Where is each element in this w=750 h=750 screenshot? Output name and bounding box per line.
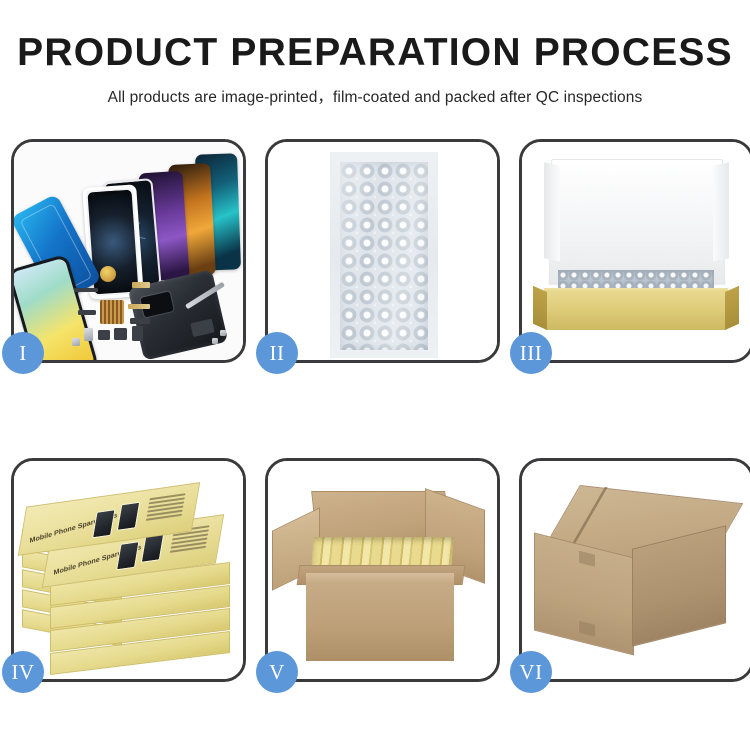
retail-box-phone-image — [117, 502, 141, 531]
process-step-panel-5: V — [265, 458, 500, 682]
part-speaker-ring — [100, 266, 116, 282]
part-camera-flex — [130, 318, 150, 324]
panel-6-image — [522, 461, 750, 679]
page-title: PRODUCT PREPARATION PROCESS — [0, 0, 750, 75]
mailer-lid-flap — [549, 159, 725, 285]
panel-4-image: Mobile Phone Spare Parts Mobile Phone Sp… — [14, 461, 243, 679]
part-screw — [220, 330, 226, 336]
spare-parts-cluster — [14, 142, 243, 360]
step-badge-1: I — [2, 332, 44, 374]
process-step-panel-2: II — [265, 139, 500, 363]
part-flex-strip — [74, 288, 98, 292]
part-vibrator — [114, 328, 127, 340]
part-screw — [72, 338, 80, 346]
part-screw — [212, 338, 218, 344]
carton-tab-lower — [579, 621, 595, 637]
process-step-panel-6: VI — [519, 458, 750, 682]
bubble-wrap-texture — [340, 162, 428, 350]
step-badge-4: IV — [2, 651, 44, 693]
process-steps-grid: I II III — [11, 139, 739, 682]
header: PRODUCT PREPARATION PROCESS All products… — [0, 0, 750, 107]
product-preparation-infographic: PRODUCT PREPARATION PROCESS All products… — [0, 0, 750, 750]
part-connector — [132, 282, 150, 288]
retail-box-stack: Mobile Phone Spare Parts Mobile Phone Sp… — [20, 477, 238, 673]
process-step-panel-1: I — [11, 139, 246, 363]
step-badge-5: V — [256, 651, 298, 693]
panel-3-image — [522, 142, 750, 360]
carton-tab-upper — [579, 551, 595, 567]
panel-2-image — [268, 142, 497, 360]
retail-box-phone-image — [116, 541, 140, 570]
panel-5-image — [268, 461, 497, 679]
process-step-panel-4: Mobile Phone Spare Parts Mobile Phone Sp… — [11, 458, 246, 682]
part-sim-tray — [84, 328, 93, 341]
retail-box-phone-image — [92, 509, 116, 538]
bubble-wrap-pouch — [330, 152, 438, 358]
part-flex-cable — [128, 304, 150, 309]
process-step-panel-3: III — [519, 139, 750, 363]
step-badge-6: VI — [510, 651, 552, 693]
carton-body — [306, 583, 454, 661]
step-badge-3: III — [510, 332, 552, 374]
part-camera-module — [132, 326, 143, 341]
mailer-lid-tab-left — [544, 162, 560, 261]
part-mesh-grille — [100, 300, 124, 324]
page-subtitle: All products are image-printed，film-coat… — [0, 75, 750, 107]
mailer-box-front — [544, 292, 728, 330]
mailer-lid-tab-right — [713, 162, 729, 261]
retail-box-spec-lines — [145, 493, 185, 523]
step-badge-2: II — [256, 332, 298, 374]
part-ribbon-cable — [78, 310, 96, 315]
part-button — [98, 330, 110, 340]
panel-1-image — [14, 142, 243, 360]
